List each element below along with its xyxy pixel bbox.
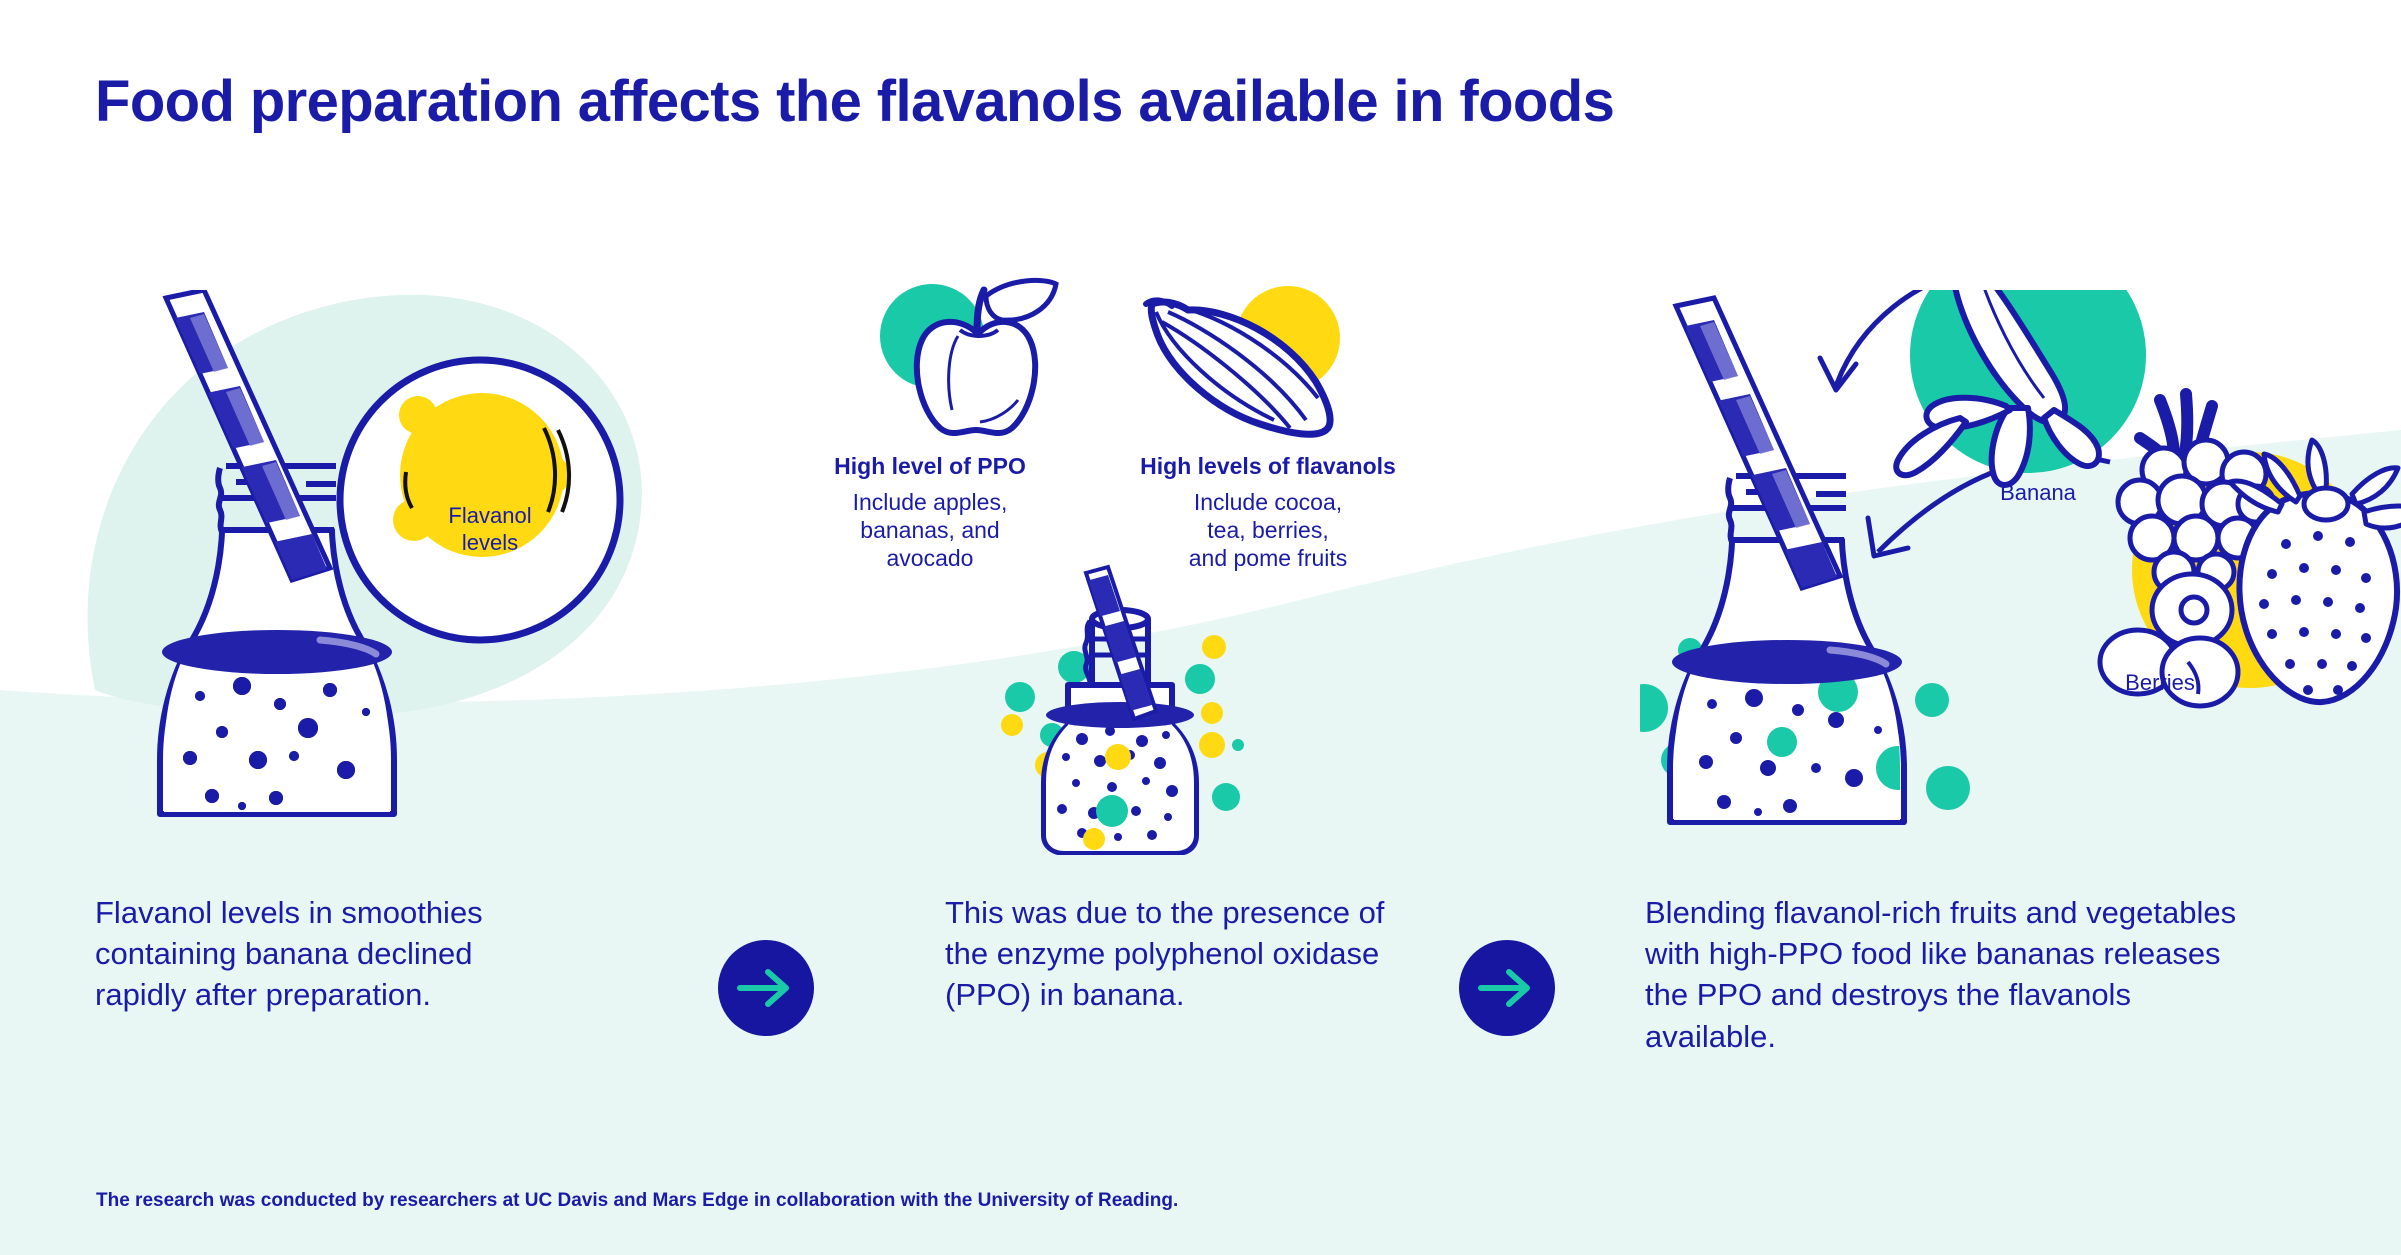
footer-credit: The research was conducted by researcher… xyxy=(96,1190,1178,1212)
arrow-right-icon xyxy=(1459,940,1555,1036)
flavanol-magnifier xyxy=(340,360,620,640)
column-1-text: Flavanol levels in smoothies containing … xyxy=(95,892,525,1016)
left-bottle-illustration xyxy=(130,290,650,820)
right-bottle-illustration xyxy=(1640,290,2401,830)
cocoa-pod-icon xyxy=(1120,260,1360,450)
flow-arrow-2[interactable] xyxy=(1459,940,1555,1036)
high-flavanols-label-group: High levels of flavanols Include cocoa,t… xyxy=(1098,452,1438,572)
column-3-text: Blending flavanol-rich fruits and vegeta… xyxy=(1645,892,2245,1057)
liquid-surface xyxy=(162,630,392,674)
high-ppo-label-group: High level of PPO Include apples,bananas… xyxy=(760,452,1100,572)
page-title: Food preparation affects the flavanols a… xyxy=(95,68,1614,135)
middle-bottle-illustration xyxy=(990,555,1280,855)
berries-icon xyxy=(2100,394,2401,706)
banana-caption: Banana xyxy=(1958,480,2118,506)
arrow-right-icon xyxy=(718,940,814,1036)
high-ppo-heading: High level of PPO xyxy=(760,452,1100,481)
flavanol-levels-caption: Flavanol levels xyxy=(420,503,560,557)
apple-icon xyxy=(860,260,1100,450)
infographic-stage: Food preparation affects the flavanols a… xyxy=(0,0,2401,1255)
high-flavanols-heading: High levels of flavanols xyxy=(1098,452,1438,481)
berries-caption: Berries xyxy=(2080,670,2240,696)
banana-icon xyxy=(1896,290,2146,485)
column-2-text: This was due to the presence of the enzy… xyxy=(945,892,1385,1016)
flow-arrow-1[interactable] xyxy=(718,940,814,1036)
